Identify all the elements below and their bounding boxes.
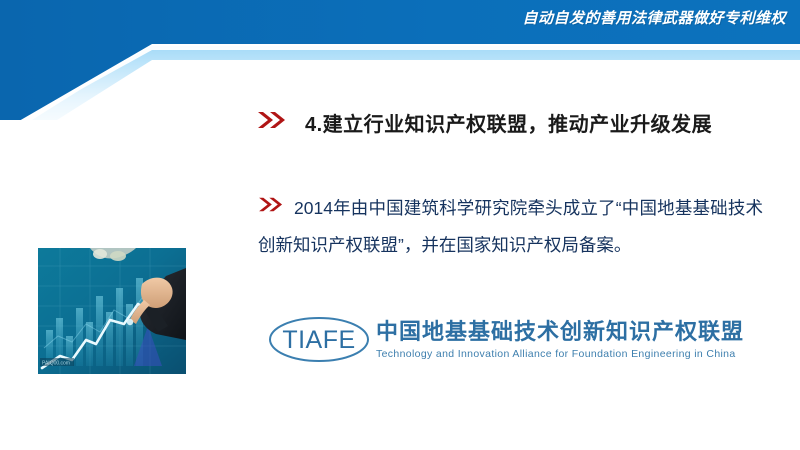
body-paragraph-text: 2014年由中国建筑科学研究院牵头成立了“中国地基基础技术创新知识产权联盟”，并… — [258, 198, 763, 256]
double-chevron-right-icon — [258, 189, 284, 226]
tiafe-monogram-icon: TIAFE — [268, 316, 370, 363]
svg-text:PAIQ00.com: PAIQ00.com — [42, 361, 70, 367]
section-title-row: 4.建立行业知识产权联盟，推动产业升级发展 — [257, 108, 712, 137]
body-paragraph-block: 2014年由中国建筑科学研究院牵头成立了“中国地基基础技术创新知识产权联盟”，并… — [258, 172, 763, 282]
business-growth-chart-photo: PAIQ00.com — [38, 248, 186, 374]
section-title-text: 4.建立行业知识产权联盟，推动产业升级发展 — [305, 108, 712, 137]
slide-canvas: 自动自发的善用法律武器做好专利维权 4.建立行业知识产权联盟，推动产业升级发展 … — [0, 0, 800, 450]
double-chevron-right-icon — [257, 110, 287, 135]
svg-text:TIAFE: TIAFE — [282, 326, 355, 354]
logo-english-name: Technology and Innovation Alliance for F… — [376, 347, 744, 361]
header-title: 自动自发的善用法律武器做好专利维权 — [522, 6, 786, 32]
logo-chinese-name: 中国地基基础技术创新知识产权联盟 — [376, 319, 744, 345]
body-paragraph: 2014年由中国建筑科学研究院牵头成立了“中国地基基础技术创新知识产权联盟”，并… — [258, 190, 763, 265]
logo-text-block: 中国地基基础技术创新知识产权联盟 Technology and Innovati… — [376, 319, 744, 361]
alliance-logo: TIAFE 中国地基基础技术创新知识产权联盟 Technology and In… — [268, 316, 744, 363]
